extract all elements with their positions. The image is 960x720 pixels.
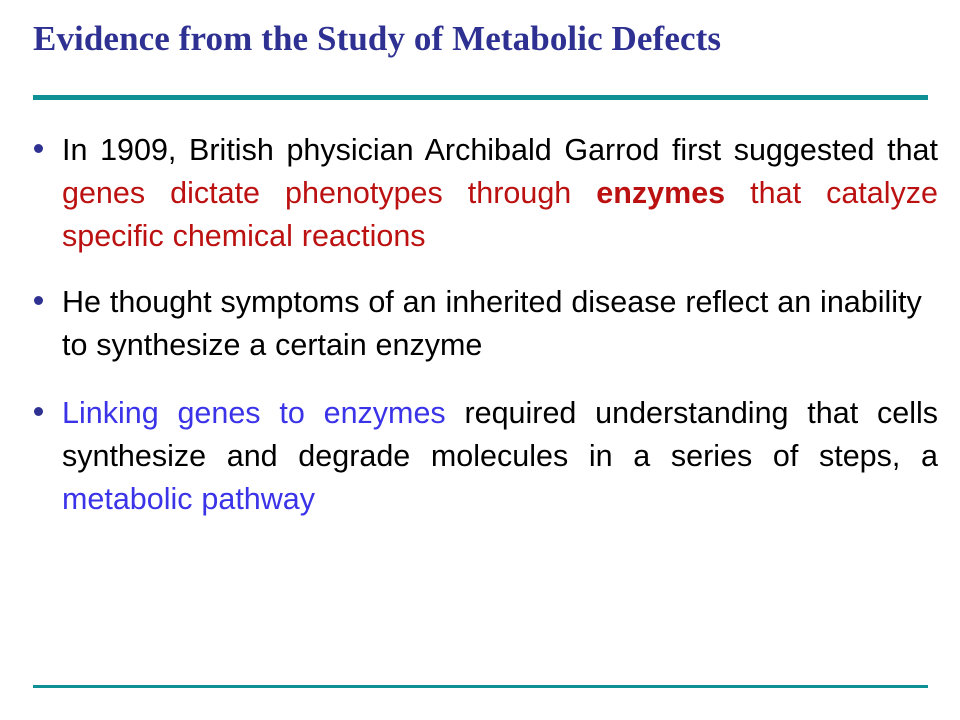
- text-run: Linking genes to enzymes: [62, 396, 446, 430]
- text-run: metabolic pathway: [62, 482, 315, 516]
- bullet-marker-icon: [34, 296, 43, 305]
- footer-divider-rule-bottom: [33, 685, 928, 688]
- text-run: In 1909, British physician Archibald Gar…: [62, 133, 938, 167]
- bullet-text: He thought symptoms of an inherited dise…: [62, 281, 938, 367]
- bullet-marker-icon: [34, 407, 43, 416]
- bullet-marker-icon: [34, 144, 43, 153]
- text-run: enzymes: [596, 176, 725, 210]
- slide-title: Evidence from the Study of Metabolic Def…: [33, 18, 928, 60]
- text-run: He thought symptoms of an inherited dise…: [62, 285, 922, 362]
- slide-body: In 1909, British physician Archibald Gar…: [0, 129, 960, 521]
- bullet-text: Linking genes to enzymes required unders…: [62, 392, 938, 521]
- text-run: genes dictate phenotypes through: [62, 176, 596, 210]
- title-divider-rule-top: [33, 95, 928, 100]
- bullet-item: In 1909, British physician Archibald Gar…: [0, 129, 960, 258]
- bullet-text: In 1909, British physician Archibald Gar…: [62, 129, 938, 258]
- bullet-item: Linking genes to enzymes required unders…: [0, 392, 960, 521]
- bullet-item: He thought symptoms of an inherited dise…: [0, 281, 960, 367]
- slide: Evidence from the Study of Metabolic Def…: [0, 0, 960, 720]
